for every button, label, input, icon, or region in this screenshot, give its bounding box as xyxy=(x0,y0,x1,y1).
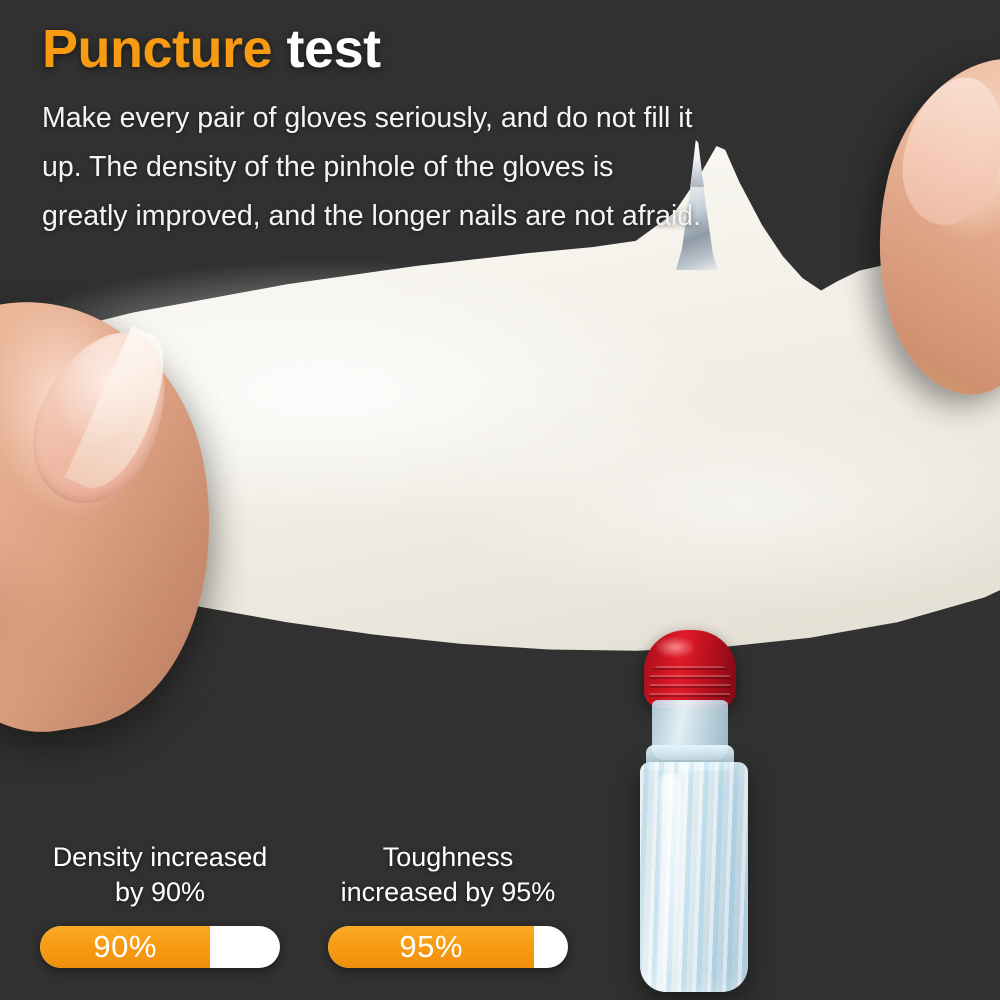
product-feature-banner: Puncture test Make every pair of gloves … xyxy=(0,0,1000,1000)
stat-toughness: Toughness increased by 95% 95% xyxy=(328,840,568,968)
title-plain-word: test xyxy=(272,19,381,79)
stat-caption-line2: increased by 95% xyxy=(328,875,568,910)
stat-caption: Density increased by 90% xyxy=(40,840,280,910)
title-accent-word: Puncture xyxy=(42,19,272,79)
stat-caption: Toughness increased by 95% xyxy=(328,840,568,910)
progress-bar-density: 90% xyxy=(40,926,280,968)
body-paragraph: Make every pair of gloves seriously, and… xyxy=(42,94,702,241)
stat-caption-line1: Density increased xyxy=(40,840,280,875)
bottle-highlight xyxy=(660,772,680,972)
stat-density: Density increased by 90% 90% xyxy=(40,840,280,968)
progress-bar-label: 95% xyxy=(328,926,534,968)
copy-block: Puncture test Make every pair of gloves … xyxy=(42,22,742,241)
water-bottle xyxy=(640,762,748,992)
page-title: Puncture test xyxy=(42,22,742,77)
stat-caption-line1: Toughness xyxy=(328,840,568,875)
stats-row: Density increased by 90% 90% Toughness i… xyxy=(40,840,568,968)
progress-bar-toughness: 95% xyxy=(328,926,568,968)
progress-bar-label: 90% xyxy=(40,926,210,968)
stat-caption-line2: by 90% xyxy=(40,875,280,910)
